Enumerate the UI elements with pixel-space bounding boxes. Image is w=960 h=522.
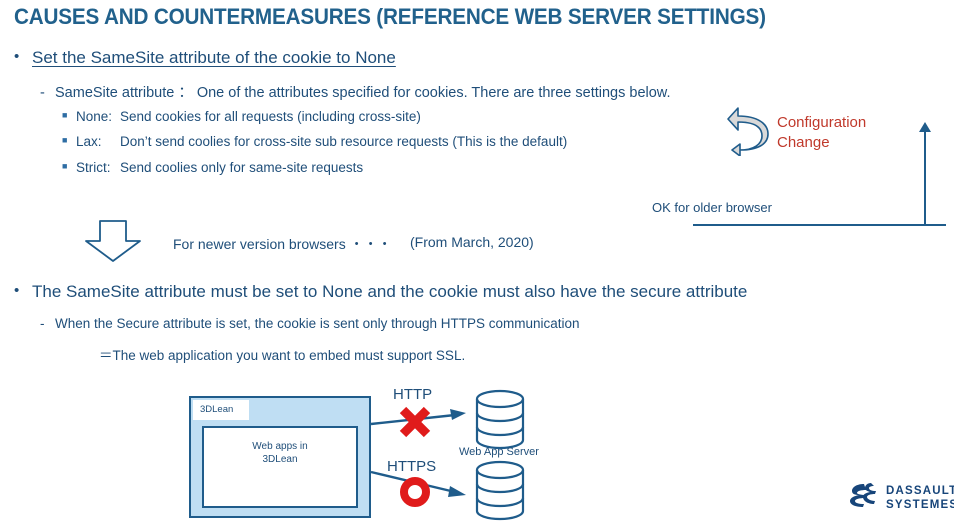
bullet-level2-samesite-attribute: -SameSite attribute ： One of the attribu… xyxy=(40,81,671,102)
bullet-level2-samesite-attribute-label: SameSite attribute ： One of the attribut… xyxy=(55,85,671,101)
bullet-level3-strict: ■Strict:Send coolies only for same-site … xyxy=(62,160,363,175)
bullet-level1-set-samesite-label: Set the SameSite attribute of the cookie… xyxy=(32,48,396,67)
logo-brand-line1: DASSAULT xyxy=(886,485,954,497)
bullet-dash-icon: - xyxy=(40,316,55,331)
ok-baseline-divider xyxy=(693,224,946,226)
web-app-server-label: Web App Server xyxy=(459,446,539,458)
bullet-square-icon: ■ xyxy=(62,135,76,145)
bullet-level1-secure-attribute: •The SameSite attribute must be set to N… xyxy=(14,282,747,302)
bullet-level3-none-label: None: xyxy=(76,109,120,124)
http-arrow-icon xyxy=(371,409,466,424)
ok-for-older-browser-label: OK for older browser xyxy=(652,200,772,215)
bullet-dot-icon: • xyxy=(14,48,32,65)
ok-vertical-connector xyxy=(924,128,926,226)
dassault-systemes-logo: DASSAULT SYSTEMES xyxy=(848,480,954,519)
configuration-change-line2: Change xyxy=(777,133,866,153)
bullet-level2-secure-https-label: When the Secure attribute is set, the co… xyxy=(55,316,580,331)
browser-content-line2: 3DLean xyxy=(204,453,356,466)
configuration-change-uturn-arrow-icon xyxy=(726,106,772,161)
browser-content-area: Web apps in 3DLean xyxy=(202,426,358,508)
from-date-label: (From March, 2020) xyxy=(410,234,534,250)
configuration-change-label: Configuration Change xyxy=(777,113,866,153)
ok-vertical-arrow-head-icon xyxy=(919,122,931,132)
bullet-dot-icon: • xyxy=(14,282,32,299)
configuration-change-line1: Configuration xyxy=(777,113,866,133)
bullet-level2-secure-https: -When the Secure attribute is set, the c… xyxy=(40,316,580,331)
browser-content-line1: Web apps in xyxy=(204,440,356,453)
bullet-level3-strict-text: Send coolies only for same-site requests xyxy=(120,160,363,175)
equals-ssl-note: ＝The web application you want to embed m… xyxy=(99,344,465,364)
bullet-level1-secure-attribute-label: The SameSite attribute must be set to No… xyxy=(32,282,747,301)
bullet-square-icon: ■ xyxy=(62,161,76,171)
down-arrow-icon xyxy=(82,219,144,268)
newer-browsers-label: For newer version browsers ・・・ xyxy=(173,234,392,254)
bullet-level1-set-samesite: •Set the SameSite attribute of the cooki… xyxy=(14,48,396,68)
bullet-level3-lax-text: Don’t send coolies for cross-site sub re… xyxy=(120,134,567,149)
secure-server-database-icon xyxy=(477,462,523,519)
bullet-square-icon: ■ xyxy=(62,110,76,120)
http-label: HTTP xyxy=(393,386,432,403)
bullet-level3-none: ■None:Send cookies for all requests (inc… xyxy=(62,109,421,124)
bullet-dash-icon: - xyxy=(40,85,55,101)
https-arrow-icon xyxy=(371,472,466,497)
red-circle-allowed-icon xyxy=(404,481,426,503)
bullet-level3-none-text: Send cookies for all requests (including… xyxy=(120,109,421,124)
bullet-level3-lax: ■Lax:Don’t send coolies for cross-site s… xyxy=(62,134,567,149)
bullet-level3-lax-label: Lax: xyxy=(76,134,120,149)
browser-window-graphic: 3DLean Web apps in 3DLean xyxy=(189,396,371,518)
page-title: CAUSES AND COUNTERMEASURES (REFERENCE WE… xyxy=(14,4,766,30)
web-app-server-database-icon xyxy=(477,391,523,448)
red-x-blocked-icon xyxy=(403,410,427,434)
https-label: HTTPS xyxy=(387,458,436,475)
diagram-connectors xyxy=(0,0,960,522)
bullet-level3-strict-label: Strict: xyxy=(76,160,120,175)
browser-tab-3dlean: 3DLean xyxy=(193,400,249,420)
logo-brand-line2: SYSTEMES xyxy=(886,499,954,511)
